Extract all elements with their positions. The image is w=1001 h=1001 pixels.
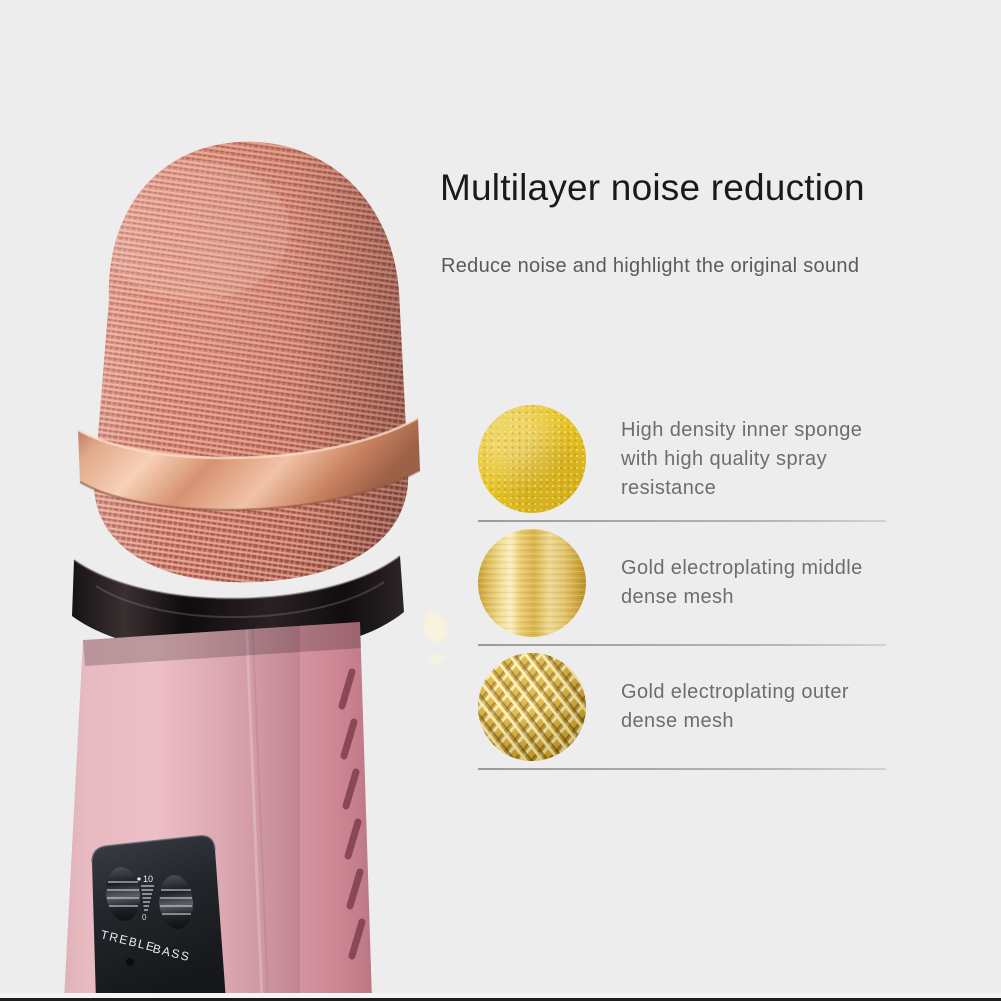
feature-label: High density inner sponge with high qual… xyxy=(621,416,886,503)
scale-max-label: 10 xyxy=(143,874,153,884)
product-infographic: 10 0 TREBLE BASS Multilayer noise reduct… xyxy=(0,0,1001,1001)
mesh-shading xyxy=(478,653,586,761)
feature-label: Gold electroplating middle dense mesh xyxy=(621,554,886,612)
microphone-illustration: 10 0 TREBLE BASS xyxy=(0,0,470,1001)
brushed-texture xyxy=(478,529,586,637)
page-subtitle: Reduce noise and highlight the original … xyxy=(441,255,859,278)
feature-label: Gold electroplating outer dense mesh xyxy=(621,678,886,736)
feature-item-sponge: High density inner sponge with high qual… xyxy=(478,398,886,520)
scale-min-label: 0 xyxy=(142,913,147,922)
brushed-gold-swatch xyxy=(478,529,586,637)
feature-item-outer-mesh: Gold electroplating outer dense mesh xyxy=(478,646,886,768)
yellow-sponge-swatch xyxy=(478,405,586,513)
gold-mesh-swatch xyxy=(478,653,586,761)
microphone-product-photo: 10 0 TREBLE BASS xyxy=(0,0,470,1001)
feature-divider xyxy=(478,768,886,770)
feature-list: High density inner sponge with high qual… xyxy=(478,398,886,770)
page-title: Multilayer noise reduction xyxy=(440,167,1001,210)
feature-item-middle-mesh: Gold electroplating middle dense mesh xyxy=(478,522,886,644)
sponge-texture xyxy=(478,405,586,513)
microphone-head xyxy=(60,120,440,600)
control-panel[interactable]: 10 0 TREBLE BASS xyxy=(92,836,226,1001)
indicator-led xyxy=(126,958,134,966)
